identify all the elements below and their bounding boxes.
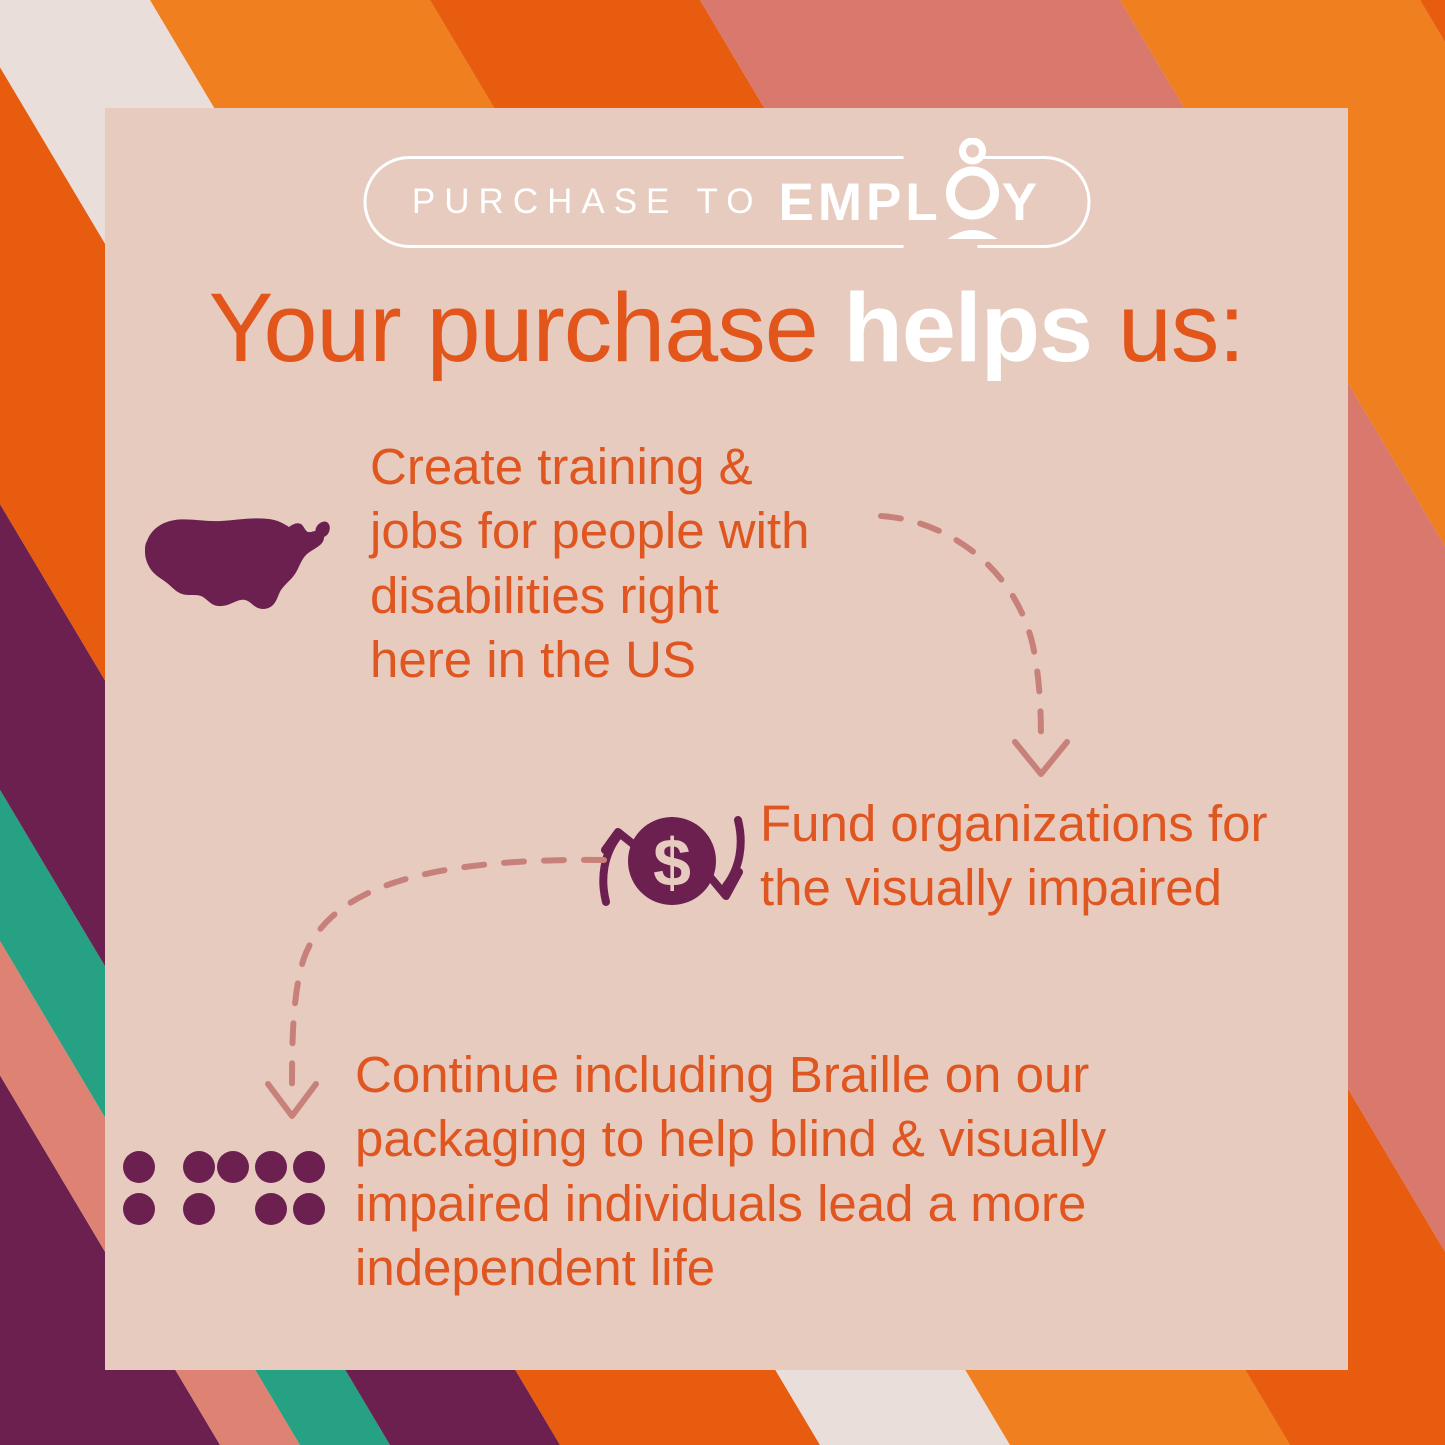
item-3-line-4: independent life [355, 1239, 715, 1296]
item-3-line-3: impaired individuals lead a more [355, 1175, 1086, 1232]
item-3-line-2: packaging to help blind & visually [355, 1110, 1106, 1167]
poster-canvas: PURCHASE TO EMPL Y [0, 0, 1445, 1445]
us-map-icon [131, 500, 351, 630]
item-3-text: Continue including Braille on ourpackagi… [355, 1043, 1175, 1300]
headline: Your purchase helps us: [105, 272, 1348, 384]
item-1-line-4: here in the US [370, 631, 696, 688]
connector-arrow-1 [875, 506, 1095, 786]
item-3-line-1: Continue including Braille on our [355, 1046, 1089, 1103]
headline-part2: us: [1092, 273, 1244, 382]
item-2-line-1: Fund organizations for [760, 795, 1267, 852]
headline-part1: Your purchase [209, 273, 844, 382]
dollar-coin-icon: $ [592, 806, 752, 916]
item-2-text: Fund organizations forthe visually impai… [760, 792, 1330, 921]
item-1-text: Create training &jobs for people withdis… [370, 435, 890, 692]
badge-label-bold: EMPL Y [778, 172, 1041, 233]
headline-emphasis: helps [844, 273, 1092, 382]
svg-text:$: $ [653, 825, 691, 901]
person-icon [944, 138, 1002, 242]
item-1-line-2: jobs for people with [370, 502, 809, 559]
purchase-to-employ-badge: PURCHASE TO EMPL Y [363, 156, 1090, 248]
item-1-line-1: Create training & [370, 438, 753, 495]
content-card: PURCHASE TO EMPL Y [105, 108, 1348, 1370]
badge-empl-text: EMPL [778, 173, 941, 232]
badge-label-light: PURCHASE TO [412, 182, 763, 222]
braille-dots-icon [117, 1143, 332, 1233]
item-1-line-3: disabilities right [370, 567, 719, 624]
item-2-line-2: the visually impaired [760, 859, 1222, 916]
badge-y-text: Y [1002, 173, 1041, 232]
